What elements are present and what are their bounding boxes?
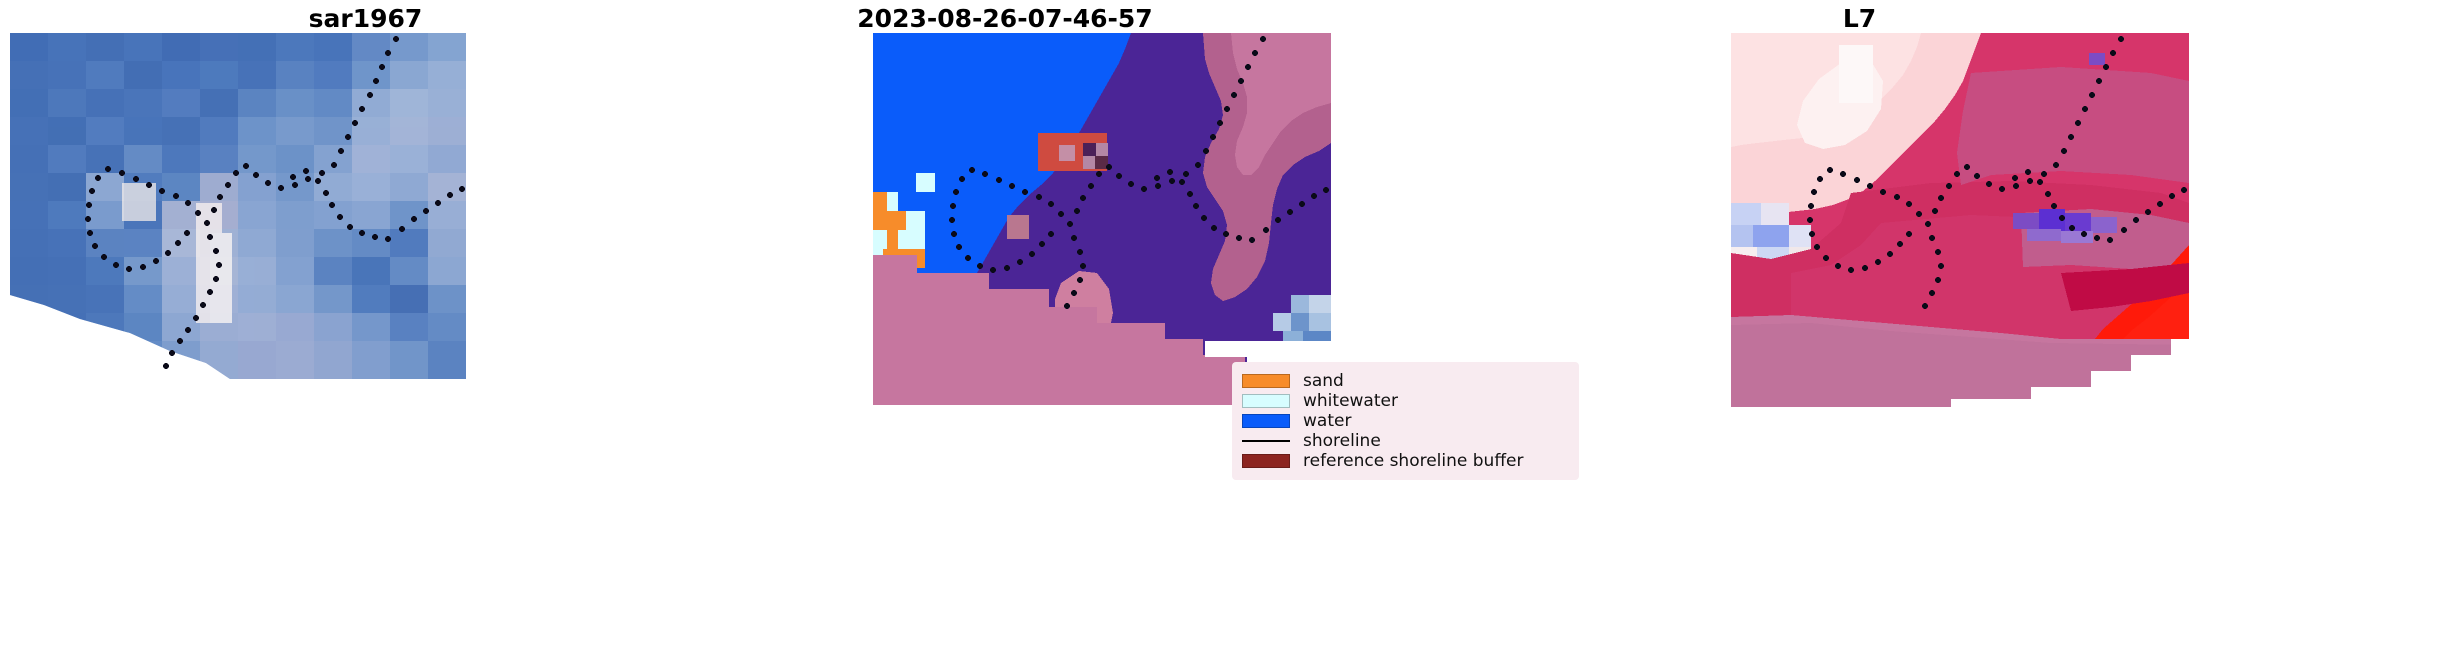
legend-item-shoreline: shoreline bbox=[1242, 431, 1568, 451]
panel-title-3: L7 bbox=[1430, 4, 2289, 34]
L7-raster bbox=[1731, 33, 2189, 415]
reference-buffer-box bbox=[1038, 133, 1108, 171]
panel-image-classified bbox=[873, 33, 1331, 415]
legend-swatch-sand bbox=[1242, 374, 1290, 388]
legend-item-sand: sand bbox=[1242, 371, 1568, 391]
legend-label-reference-shoreline-buffer: reference shoreline buffer bbox=[1303, 451, 1524, 471]
legend-label-whitewater: whitewater bbox=[1303, 391, 1398, 411]
panel-image-sar1967 bbox=[10, 33, 466, 379]
figure-canvas: sar1967 bbox=[0, 0, 2460, 668]
legend-item-whitewater: whitewater bbox=[1242, 391, 1568, 411]
panel-title-2: 2023-08-26-07-46-57 bbox=[570, 4, 1440, 34]
legend-line-shoreline bbox=[1242, 434, 1290, 448]
legend-swatch-reference-shoreline-buffer bbox=[1242, 454, 1290, 468]
legend-label-shoreline: shoreline bbox=[1303, 431, 1381, 451]
panel-sar1967: sar1967 bbox=[0, 0, 731, 668]
panel-classified: 2023-08-26-07-46-57 bbox=[731, 0, 1601, 668]
legend-label-water: water bbox=[1303, 411, 1351, 431]
panel-L7: L7 bbox=[1601, 0, 2460, 668]
classified-raster bbox=[873, 33, 1331, 415]
panel-image-L7 bbox=[1731, 33, 2189, 415]
legend-item-water: water bbox=[1242, 411, 1568, 431]
legend-label-sand: sand bbox=[1303, 371, 1344, 391]
legend-item-reference-shoreline-buffer: reference shoreline buffer bbox=[1242, 451, 1568, 471]
legend-swatch-water bbox=[1242, 414, 1290, 428]
sar1967-raster bbox=[10, 33, 466, 379]
legend: sand whitewater water shoreline referenc… bbox=[1232, 362, 1579, 480]
legend-swatch-whitewater bbox=[1242, 394, 1290, 408]
